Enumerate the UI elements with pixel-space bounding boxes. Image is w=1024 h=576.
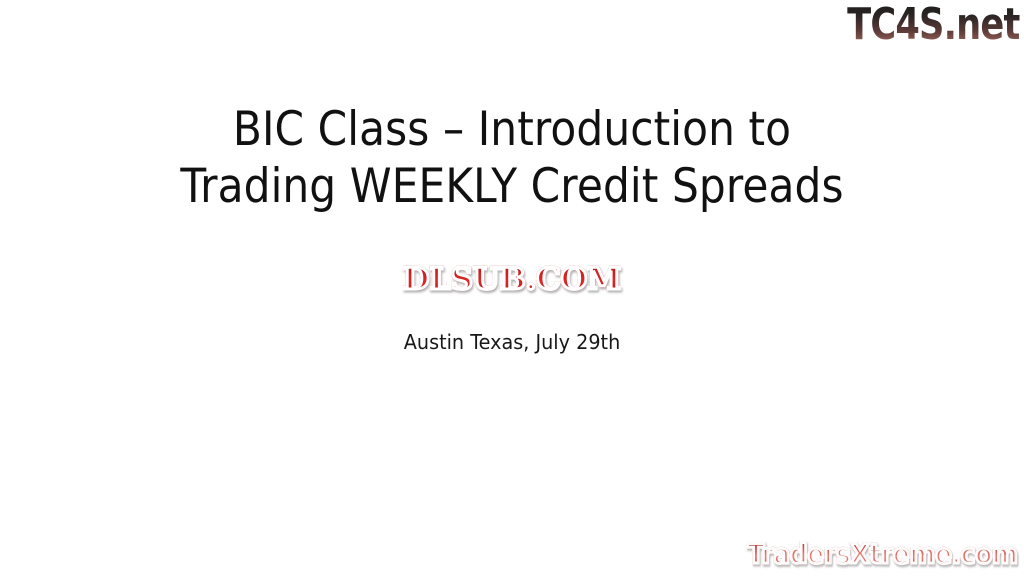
title-line-1: BIC Class – Introduction to bbox=[51, 101, 973, 158]
page-title: BIC Class – Introduction to Trading WEEK… bbox=[0, 101, 1024, 215]
tc4s-watermark: TC4S.net bbox=[848, 2, 1020, 48]
dlsub-watermark: DLSUB.COM bbox=[403, 263, 621, 297]
dlsub-watermark-container: DLSUB.COM bbox=[0, 263, 1024, 303]
tradersxtreme-watermark: TradersXtreme.com bbox=[748, 540, 1018, 570]
subtitle-location-date: Austin Texas, July 29th bbox=[20, 329, 1003, 355]
title-line-2: Trading WEEKLY Credit Spreads bbox=[51, 158, 973, 215]
presentation-slide: TC4S.net BIC Class – Introduction to Tra… bbox=[0, 0, 1024, 576]
